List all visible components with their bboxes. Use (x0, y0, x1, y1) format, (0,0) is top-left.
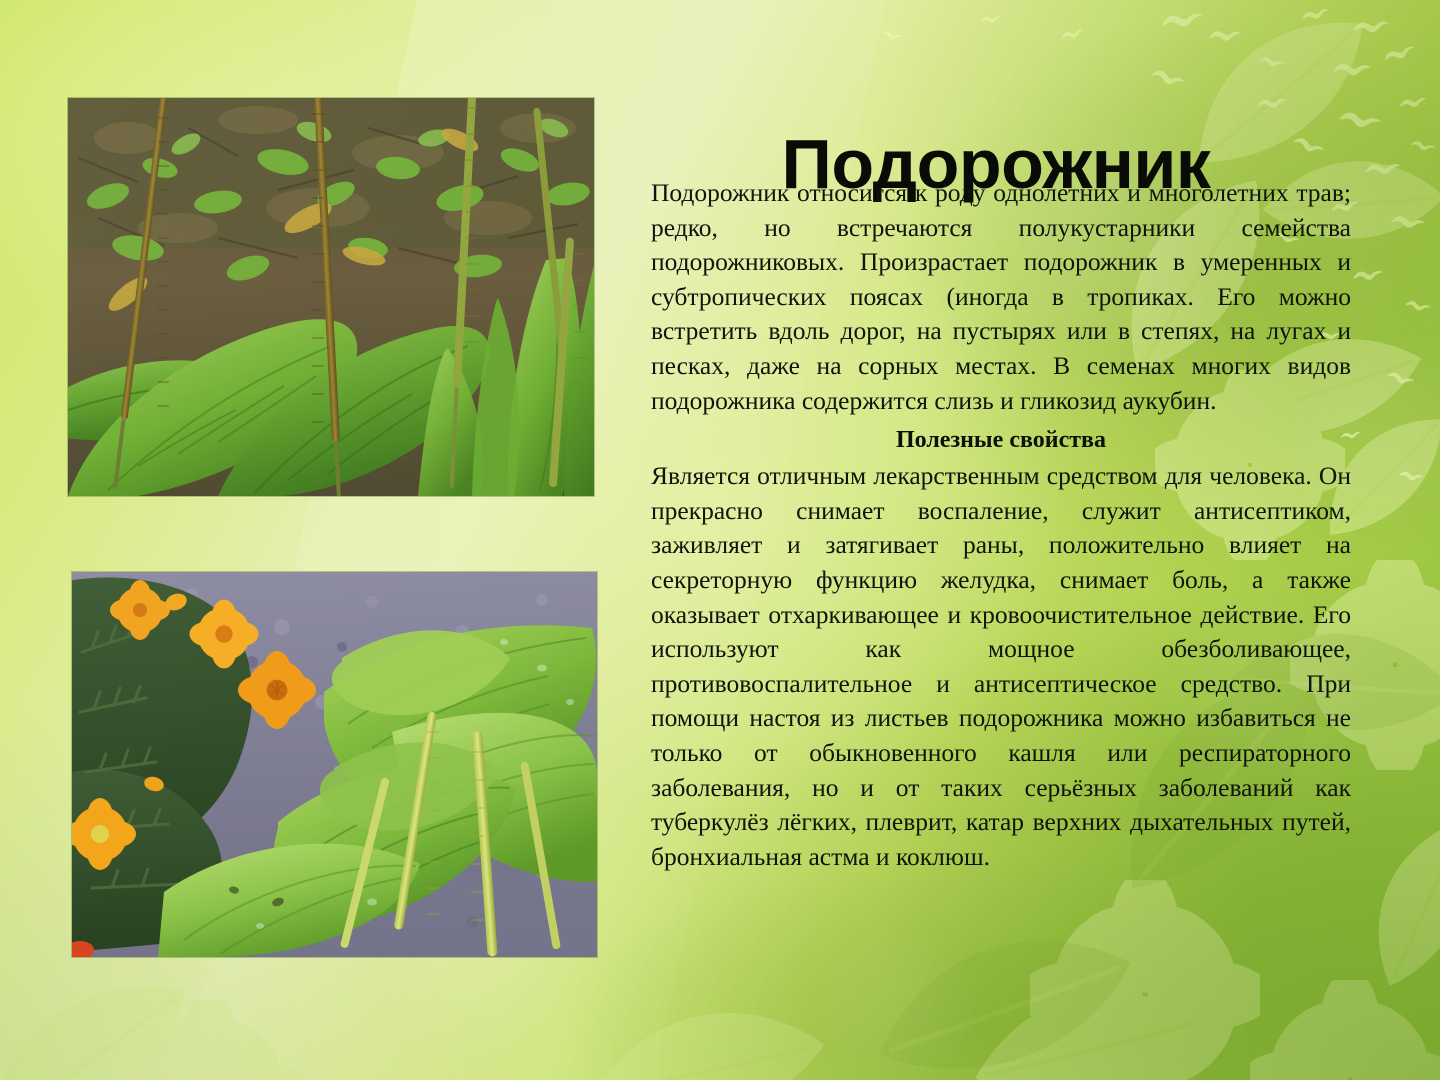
paragraph-description: Подорожник относится к роду однолетних и… (651, 176, 1351, 418)
subheading-useful-properties: Полезные свойства (651, 424, 1351, 457)
plantain-garden-photo (72, 572, 597, 957)
slide-root: Подорожник Подорожник относится к роду о… (0, 0, 1440, 1080)
plantain-field-photo (68, 98, 594, 496)
paragraph-useful-properties: Является отличным лекарственным средство… (651, 459, 1351, 874)
article-body: Подорожник относится к роду однолетних и… (651, 176, 1351, 874)
